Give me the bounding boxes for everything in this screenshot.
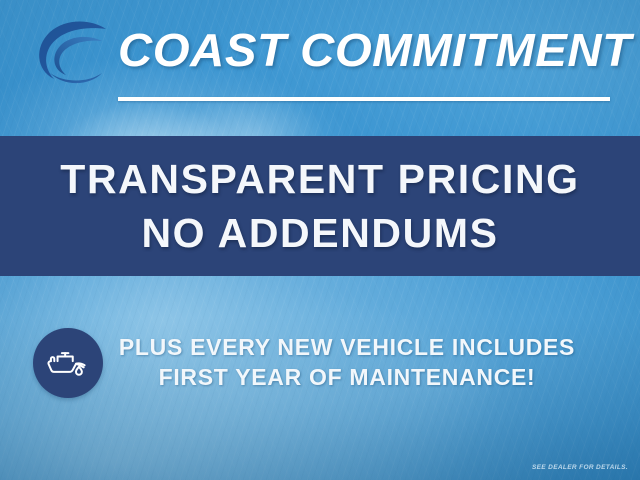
headline-line-2: NO ADDENDUMS bbox=[141, 206, 498, 260]
promo-line-2: FIRST YEAR OF MAINTENANCE! bbox=[112, 362, 582, 392]
oil-can-icon bbox=[33, 328, 103, 398]
promo-section: PLUS EVERY NEW VEHICLE INCLUDES FIRST YE… bbox=[0, 318, 640, 410]
coast-commitment-banner: COAST COMMITMENT TRANSPARENT PRICING NO … bbox=[0, 0, 640, 480]
promo-line-1: PLUS EVERY NEW VEHICLE INCLUDES bbox=[112, 332, 582, 362]
headline-line-1: TRANSPARENT PRICING bbox=[60, 152, 579, 206]
brand-title: COAST COMMITMENT bbox=[118, 23, 633, 77]
disclaimer-text: SEE DEALER FOR DETAILS. bbox=[532, 464, 628, 471]
header-divider bbox=[118, 97, 610, 101]
banner-header: COAST COMMITMENT bbox=[0, 0, 640, 136]
wave-swirl-logo-icon bbox=[24, 16, 120, 88]
promo-text-block: PLUS EVERY NEW VEHICLE INCLUDES FIRST YE… bbox=[112, 332, 582, 392]
headline-band: TRANSPARENT PRICING NO ADDENDUMS bbox=[0, 136, 640, 276]
